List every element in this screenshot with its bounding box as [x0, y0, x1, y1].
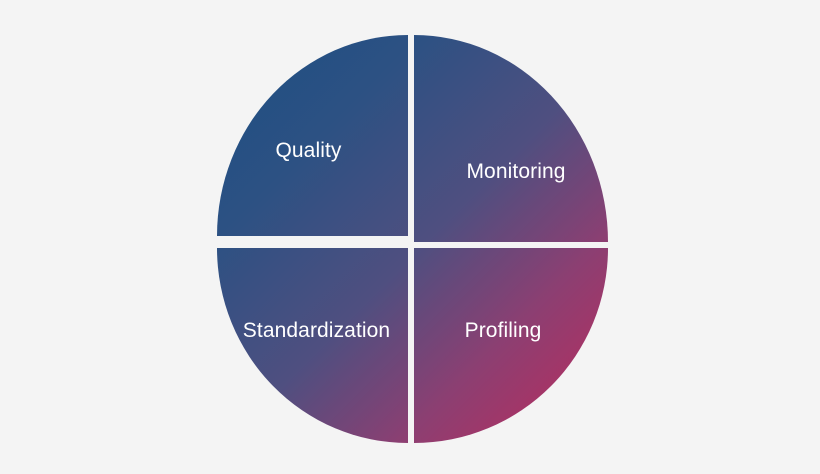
pie-slice-profiling[interactable]: Profiling: [414, 248, 608, 443]
pie-slice-label-standardization: Standardization: [217, 320, 408, 341]
pie-slice-quality[interactable]: Quality: [217, 35, 408, 236]
pie-slice-label-quality: Quality: [217, 140, 408, 161]
pie-slice-standardization[interactable]: Standardization: [217, 248, 408, 443]
pie-slice-label-monitoring: Monitoring: [414, 161, 608, 182]
pie-slice-label-profiling: Profiling: [414, 320, 608, 341]
pie-slice-monitoring[interactable]: Monitoring: [414, 35, 608, 242]
diagram-canvas: Quality Monitoring Standardization Profi…: [0, 0, 820, 474]
quadrant-pie-chart: Quality Monitoring Standardization Profi…: [217, 35, 608, 443]
